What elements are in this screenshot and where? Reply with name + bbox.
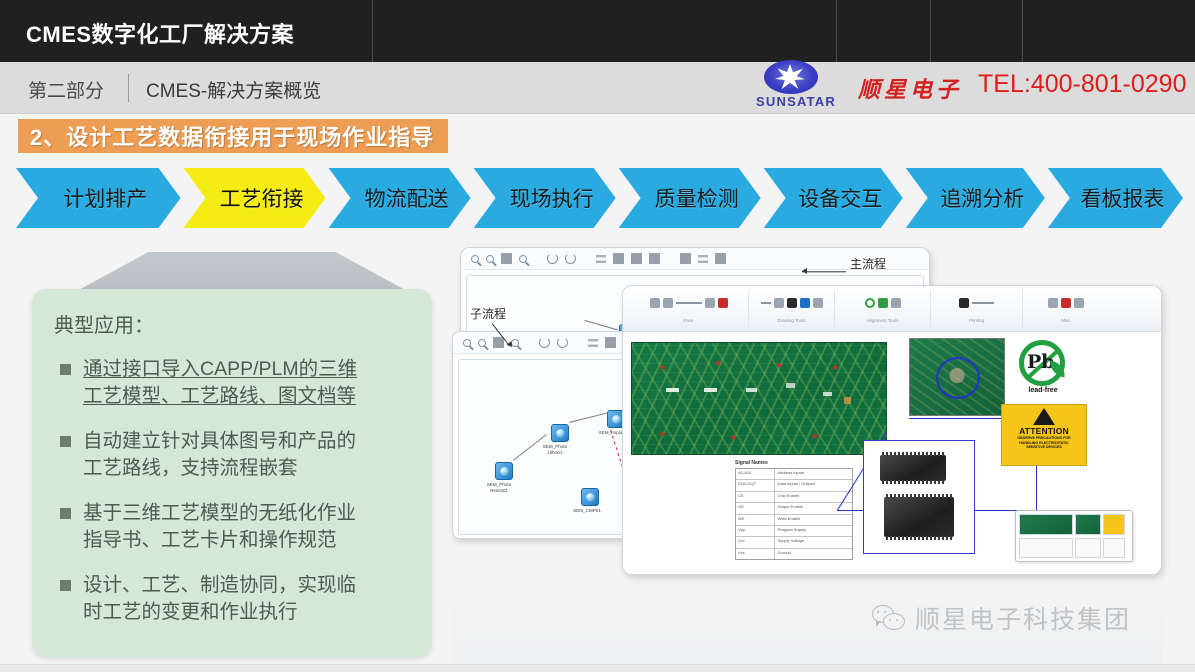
table-cell-pin: Vcc bbox=[736, 537, 775, 547]
ribbon-group-label: Alignment Tools bbox=[867, 318, 899, 323]
brand-name-cn: 顺星电子 bbox=[858, 72, 962, 104]
lead-free-logo: Pb lead-free bbox=[1015, 340, 1071, 398]
table-cell-desc: Chip Enable bbox=[775, 492, 852, 502]
header-divider-4 bbox=[1022, 0, 1023, 62]
lead-free-label: lead-free bbox=[1015, 387, 1071, 394]
zoom-highlight-ring bbox=[936, 357, 980, 399]
ribbon-group-label: Face bbox=[683, 318, 693, 323]
flow-node-label: SEM_Photo Resist01 bbox=[469, 482, 529, 494]
ribbon-row bbox=[1048, 290, 1084, 316]
wechat-bubble-front bbox=[883, 613, 905, 630]
thumbnail-blank[interactable] bbox=[1103, 538, 1125, 558]
table-cell-desc: Program Supply bbox=[775, 526, 852, 536]
process-step-label: 追溯分析 bbox=[926, 183, 1024, 213]
main-flow-callout-label: 主流程 bbox=[850, 255, 886, 272]
process-step-label: 物流配送 bbox=[351, 183, 449, 213]
process-step-label: 计划排产 bbox=[49, 183, 147, 213]
table-cell-pin: Vss bbox=[736, 549, 775, 559]
grid-icon[interactable] bbox=[588, 339, 598, 347]
ribbon-toolbar: Face Drawing Tools bbox=[623, 286, 1161, 332]
flow-node-label: SEM_CMP01 bbox=[557, 508, 617, 514]
align-icon[interactable] bbox=[605, 337, 616, 348]
ribbon-row bbox=[959, 290, 994, 316]
esd-warning-label: ATTENTION OBSERVE PRECAUTIONS FOR HANDLI… bbox=[1001, 404, 1087, 466]
callout-line bbox=[909, 418, 1005, 419]
table-cell-pin: A0-A15 bbox=[736, 469, 775, 479]
esd-triangle-icon bbox=[1033, 408, 1055, 425]
distribute-icon[interactable] bbox=[631, 253, 642, 264]
align-icon[interactable] bbox=[613, 253, 624, 264]
redo-icon[interactable] bbox=[557, 337, 568, 348]
process-chain: 计划排产 工艺衔接 物流配送 现场执行 质量检测 设备交互 追溯分析 看板报表 bbox=[16, 168, 1186, 230]
square-bullet-icon bbox=[60, 364, 71, 375]
face-tool-icon[interactable] bbox=[650, 298, 660, 308]
thumbnail-table[interactable] bbox=[1019, 538, 1073, 558]
ic-package-box bbox=[863, 440, 975, 554]
flow-link bbox=[585, 320, 618, 330]
list-item-text: 通过接口导入CAPP/PLM的三维 工艺模型、工艺路线、图文档等 bbox=[83, 356, 357, 410]
pcb-board-main bbox=[631, 342, 887, 455]
ribbon-group-printing: Printing bbox=[931, 290, 1023, 332]
thumbnail-chips[interactable] bbox=[1075, 538, 1101, 558]
zoom-region-icon[interactable] bbox=[519, 255, 527, 263]
fill-tool-icon[interactable] bbox=[800, 298, 810, 308]
pcb-components bbox=[632, 343, 886, 454]
esd-title: ATTENTION bbox=[1019, 426, 1069, 436]
face-tool-icon[interactable] bbox=[663, 298, 673, 308]
flow-link bbox=[569, 412, 608, 423]
table-cell-pin: Vpp bbox=[736, 526, 775, 536]
process-step-1[interactable]: 工艺衔接 bbox=[184, 168, 326, 228]
process-step-7[interactable]: 看板报表 bbox=[1048, 168, 1183, 228]
list-item-text: 自动建立针对具体图号和产品的 工艺路线，支持流程嵌套 bbox=[83, 428, 356, 482]
table-row: CE Chip Enable bbox=[736, 492, 852, 503]
table-cell-desc: Supply Voltage bbox=[775, 537, 852, 547]
table-cell-desc: Ground bbox=[775, 549, 852, 559]
process-step-4[interactable]: 质量检测 bbox=[619, 168, 761, 228]
ribbon-group-drawing-tools: Drawing Tools bbox=[749, 290, 835, 332]
sub-flow-callout-label: 子流程 bbox=[470, 305, 506, 322]
panel-heading: 典型应用： bbox=[54, 309, 414, 338]
face-color-icon[interactable] bbox=[718, 298, 728, 308]
square-bullet-icon bbox=[60, 436, 71, 447]
list-item: 自动建立针对具体图号和产品的 工艺路线，支持流程嵌套 bbox=[54, 428, 414, 482]
shape-tool-icon[interactable] bbox=[774, 298, 784, 308]
undo-icon[interactable] bbox=[547, 253, 558, 264]
table-row: A0-A15 Address Inputs bbox=[736, 469, 852, 480]
process-step-label: 质量检测 bbox=[641, 183, 739, 213]
thumbnail-pcb-detail[interactable] bbox=[1075, 514, 1101, 535]
settings-icon[interactable] bbox=[1074, 298, 1084, 308]
process-step-6[interactable]: 追溯分析 bbox=[906, 168, 1045, 228]
mirror-icon[interactable] bbox=[891, 298, 901, 308]
section-banner: 2、设计工艺数据衔接用于现场作业指导 bbox=[18, 119, 448, 153]
square-bullet-icon bbox=[60, 508, 71, 519]
table-cell-pin: OE bbox=[736, 503, 775, 513]
flow-node[interactable] bbox=[581, 488, 599, 506]
face-tool-icon[interactable] bbox=[705, 298, 715, 308]
ribbon-row bbox=[650, 290, 728, 316]
page-title: CMES数字化工厂解决方案 bbox=[26, 17, 294, 49]
pcb-zoom-detail bbox=[909, 338, 1005, 416]
process-step-0[interactable]: 计划排产 bbox=[16, 168, 181, 228]
face-slider-icon[interactable] bbox=[676, 302, 702, 304]
process-step-label: 看板报表 bbox=[1066, 183, 1164, 213]
list-item-text: 基于三维工艺模型的无纸化作业 指导书、工艺卡片和操作规范 bbox=[83, 500, 356, 554]
layout-thumbnail-panel[interactable] bbox=[1015, 510, 1133, 562]
header-divider-3 bbox=[930, 0, 931, 62]
print-icon[interactable] bbox=[959, 298, 969, 308]
list-item: 设计、工艺、制造协同，实现临 时工艺的变更和作业执行 bbox=[54, 572, 414, 626]
flow-node[interactable] bbox=[495, 462, 513, 480]
table-row: Vpp Program Supply bbox=[736, 526, 852, 537]
signal-names-table: A0-A15 Address Inputs DQ0-DQ7 Data Input… bbox=[735, 468, 853, 560]
process-step-label: 工艺衔接 bbox=[206, 183, 304, 213]
fit-page-icon[interactable] bbox=[501, 253, 512, 264]
ribbon-group-face: Face bbox=[629, 290, 749, 332]
header-divider-1 bbox=[372, 0, 373, 62]
main-flow-callout-arrow bbox=[802, 263, 848, 279]
order-icon[interactable] bbox=[649, 253, 660, 264]
zoom-in-icon[interactable] bbox=[463, 339, 471, 347]
line-tool-icon[interactable] bbox=[761, 302, 771, 304]
layers-icon[interactable] bbox=[698, 255, 708, 263]
slide-bottom-bar bbox=[0, 664, 1195, 672]
pcb-application-window: Face Drawing Tools bbox=[622, 285, 1162, 575]
print-option-icon[interactable] bbox=[972, 302, 994, 304]
signal-table-title: Signal Names bbox=[735, 460, 768, 466]
square-bullet-icon bbox=[60, 580, 71, 591]
flow-node-label: SEM_Photo Litho01 bbox=[525, 444, 585, 456]
ic-chip-bottom bbox=[884, 497, 954, 537]
list-item-text: 设计、工艺、制造协同，实现临 时工艺的变更和作业执行 bbox=[83, 572, 356, 626]
ribbon-row bbox=[865, 290, 901, 316]
process-step-5[interactable]: 设备交互 bbox=[764, 168, 903, 228]
align-icon[interactable] bbox=[878, 298, 888, 308]
table-row: WE Write Enable bbox=[736, 515, 852, 526]
table-row: OE Output Enable bbox=[736, 503, 852, 514]
ribbon-group-label: Misc bbox=[1061, 318, 1070, 323]
table-row: Vcc Supply Voltage bbox=[736, 537, 852, 548]
wechat-watermark: 顺星电子科技集团 bbox=[872, 600, 1131, 636]
undo-icon[interactable] bbox=[539, 337, 550, 348]
thumbnail-pcb[interactable] bbox=[1019, 514, 1073, 535]
top-header-bar: CMES数字化工厂解决方案 bbox=[0, 0, 1195, 62]
process-step-label: 设备交互 bbox=[784, 183, 882, 213]
flow-node[interactable] bbox=[551, 424, 569, 442]
process-step-2[interactable]: 物流配送 bbox=[329, 168, 471, 228]
table-row: Vss Ground bbox=[736, 549, 852, 559]
header-separator bbox=[128, 74, 129, 102]
table-cell-pin: WE bbox=[736, 515, 775, 525]
section-title: CMES-解决方案概览 bbox=[146, 76, 321, 103]
pen-tool-icon[interactable] bbox=[787, 298, 797, 308]
select-tool-icon[interactable] bbox=[813, 298, 823, 308]
application-list: 通过接口导入CAPP/PLM的三维 工艺模型、工艺路线、图文档等 自动建立针对具… bbox=[54, 356, 414, 626]
brand-telephone: TEL:400-801-0290 bbox=[978, 70, 1186, 99]
table-cell-pin: DQ0-DQ7 bbox=[736, 480, 775, 490]
esd-subtitle: OBSERVE PRECAUTIONS FOR HANDLING ELECTRO… bbox=[1013, 436, 1075, 450]
rotate-icon[interactable] bbox=[865, 298, 875, 308]
table-cell-desc: Data Inputs / Outputs bbox=[775, 480, 852, 490]
ribbon-group-alignment-tools: Alignment Tools bbox=[835, 290, 931, 332]
connector-icon[interactable] bbox=[680, 253, 691, 264]
sub-flow-callout-arrow bbox=[492, 323, 522, 353]
panel-cap-decoration bbox=[75, 252, 409, 292]
table-cell-desc: Address Inputs bbox=[775, 469, 852, 479]
typical-applications-panel: 典型应用： 通过接口导入CAPP/PLM的三维 工艺模型、工艺路线、图文档等 自… bbox=[32, 289, 432, 657]
ribbon-row bbox=[761, 290, 823, 316]
watermark-text: 顺星电子科技集团 bbox=[915, 600, 1131, 636]
header-divider-2 bbox=[836, 0, 837, 62]
redo-icon[interactable] bbox=[565, 253, 576, 264]
delete-icon[interactable] bbox=[715, 253, 726, 264]
slide-root: CMES数字化工厂解决方案 第二部分 CMES-解决方案概览 SUNSATAR … bbox=[0, 0, 1195, 672]
process-step-label: 现场执行 bbox=[496, 183, 594, 213]
section-banner-label: 2、设计工艺数据衔接用于现场作业指导 bbox=[30, 120, 434, 152]
sunsatar-logo: SUNSATAR bbox=[752, 58, 832, 114]
ribbon-group-label: Printing bbox=[969, 318, 984, 323]
screenshot-collage: SEM_Wafer Start01 SEM_Photo Lit bbox=[452, 243, 1162, 588]
section-number: 第二部分 bbox=[28, 76, 104, 103]
grid-icon[interactable] bbox=[596, 255, 606, 263]
wechat-icon bbox=[872, 605, 906, 631]
list-item: 通过接口导入CAPP/PLM的三维 工艺模型、工艺路线、图文档等 bbox=[54, 356, 414, 410]
ribbon-group-label: Drawing Tools bbox=[777, 318, 805, 323]
sign-icon[interactable] bbox=[1048, 298, 1058, 308]
process-step-3[interactable]: 现场执行 bbox=[474, 168, 616, 228]
zoom-out-icon[interactable] bbox=[478, 339, 486, 347]
table-cell-desc: Write Enable bbox=[775, 515, 852, 525]
list-item: 基于三维工艺模型的无纸化作业 指导书、工艺卡片和操作规范 bbox=[54, 500, 414, 554]
zoom-out-icon[interactable] bbox=[486, 255, 494, 263]
table-cell-pin: CE bbox=[736, 492, 775, 502]
esd-hand-icon bbox=[1033, 408, 1059, 425]
zoom-in-icon[interactable] bbox=[471, 255, 479, 263]
palette-icon[interactable] bbox=[1061, 298, 1071, 308]
ribbon-group-misc: Misc bbox=[1023, 290, 1109, 332]
ic-chip-top bbox=[880, 455, 946, 481]
thumbnail-esd[interactable] bbox=[1103, 514, 1125, 535]
pcb-canvas[interactable]: Signal Names A0-A15 Address Inputs DQ0-D… bbox=[623, 332, 1161, 574]
table-row: DQ0-DQ7 Data Inputs / Outputs bbox=[736, 480, 852, 491]
logo-wordmark: SUNSATAR bbox=[752, 94, 840, 109]
